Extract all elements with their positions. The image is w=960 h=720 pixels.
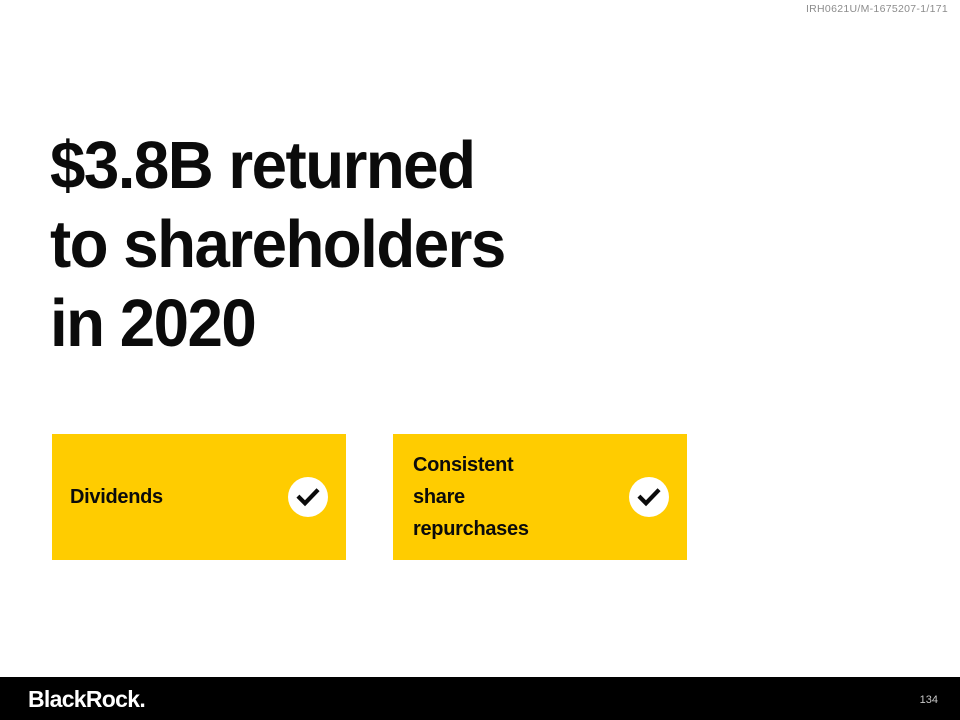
card-share-repurchases-label: Consistent share repurchases <box>413 449 529 545</box>
compliance-code: IRH0621U/M-1675207-1/171 <box>806 3 948 15</box>
card-dividends: Dividends <box>52 434 346 560</box>
headline-line-2: to shareholders <box>50 205 715 284</box>
headline-line-1: $3.8B returned <box>50 126 715 205</box>
footer-bar: BlackRock. 134 <box>0 677 960 720</box>
check-icon <box>629 477 669 517</box>
headline-line-3: in 2020 <box>50 284 715 363</box>
blackrock-logo: BlackRock. <box>28 686 145 713</box>
card-share-repurchases: Consistent share repurchases <box>393 434 687 560</box>
card-dividends-label: Dividends <box>70 481 163 513</box>
slide-canvas: IRH0621U/M-1675207-1/171 $3.8B returned … <box>0 0 960 720</box>
page-title: $3.8B returned to shareholders in 2020 <box>50 126 715 363</box>
page-number: 134 <box>920 694 938 706</box>
check-icon <box>288 477 328 517</box>
